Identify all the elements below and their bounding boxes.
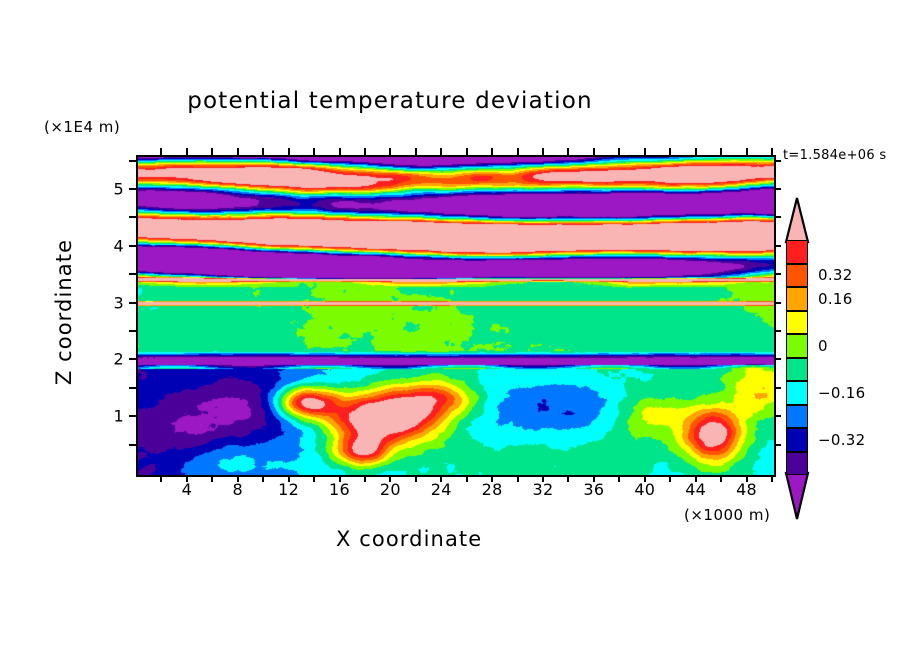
axis-tick bbox=[774, 188, 781, 190]
x-axis-unit-label: (×1000 m) bbox=[684, 506, 770, 524]
axis-tick bbox=[364, 148, 366, 155]
time-stamp-label: t=1.584e+06 s bbox=[783, 148, 886, 163]
axis-tick bbox=[771, 148, 773, 155]
colorbar-tick-label: 0.16 bbox=[818, 290, 853, 308]
axis-tick bbox=[415, 148, 417, 155]
colorbar-tick-label: −0.32 bbox=[818, 431, 865, 449]
y-tick-label: 1 bbox=[100, 407, 124, 426]
x-tick-label: 44 bbox=[685, 480, 706, 499]
y-tick-label: 5 bbox=[100, 180, 124, 199]
colorbar-band bbox=[786, 452, 808, 476]
axis-tick bbox=[129, 160, 136, 162]
x-tick-label: 12 bbox=[278, 480, 299, 499]
axis-tick bbox=[339, 148, 341, 155]
colorbar-band bbox=[786, 358, 808, 382]
contour-field-canvas bbox=[138, 157, 774, 475]
colorbar-band bbox=[786, 405, 808, 429]
axis-tick bbox=[774, 160, 781, 162]
colorbar-over-arrow bbox=[786, 198, 808, 242]
x-tick-label: 24 bbox=[431, 480, 452, 499]
axis-tick bbox=[262, 148, 264, 155]
axis-tick bbox=[669, 475, 671, 482]
axis-tick bbox=[129, 444, 136, 446]
axis-tick bbox=[517, 475, 519, 482]
axis-tick bbox=[262, 475, 264, 482]
axis-tick bbox=[415, 475, 417, 482]
y-tick-label: 2 bbox=[100, 350, 124, 369]
axis-tick bbox=[567, 475, 569, 482]
colorbar-tick-label: 0 bbox=[818, 337, 828, 355]
y-tick-label: 3 bbox=[100, 293, 124, 312]
y-axis-title: Z coordinate bbox=[52, 212, 76, 412]
axis-tick bbox=[491, 148, 493, 155]
axis-tick bbox=[160, 148, 162, 155]
axis-tick bbox=[669, 148, 671, 155]
contour-plot-area bbox=[136, 155, 776, 477]
axis-tick bbox=[466, 148, 468, 155]
axis-tick bbox=[129, 188, 136, 190]
chart-title: potential temperature deviation bbox=[0, 88, 780, 114]
colorbar-band bbox=[786, 334, 808, 358]
axis-tick bbox=[313, 148, 315, 155]
axis-tick bbox=[364, 475, 366, 482]
axis-tick bbox=[695, 148, 697, 155]
axis-tick bbox=[720, 475, 722, 482]
axis-tick bbox=[746, 148, 748, 155]
x-tick-label: 20 bbox=[380, 480, 401, 499]
axis-tick bbox=[211, 475, 213, 482]
axis-tick bbox=[720, 148, 722, 155]
axis-tick bbox=[644, 148, 646, 155]
axis-tick bbox=[567, 148, 569, 155]
axis-tick bbox=[313, 475, 315, 482]
x-tick-label: 36 bbox=[583, 480, 604, 499]
x-tick-label: 8 bbox=[233, 480, 243, 499]
axis-tick bbox=[593, 148, 595, 155]
colorbar-band bbox=[786, 381, 808, 405]
axis-tick bbox=[288, 148, 290, 155]
colorbar-tick-label: 0.32 bbox=[818, 266, 853, 284]
axis-tick bbox=[129, 415, 136, 417]
axis-tick bbox=[389, 148, 391, 155]
axis-tick bbox=[618, 475, 620, 482]
colorbar-band bbox=[786, 264, 808, 288]
axis-tick bbox=[129, 302, 136, 304]
axis-tick bbox=[186, 148, 188, 155]
colorbar-band bbox=[786, 428, 808, 452]
colorbar-band bbox=[786, 311, 808, 335]
x-tick-label: 4 bbox=[182, 480, 192, 499]
colorbar-band bbox=[786, 240, 808, 264]
colorbar-tick-label: −0.16 bbox=[818, 384, 865, 402]
axis-tick bbox=[618, 148, 620, 155]
x-tick-label: 16 bbox=[329, 480, 350, 499]
x-tick-label: 48 bbox=[736, 480, 757, 499]
axis-tick bbox=[771, 475, 773, 482]
axis-tick bbox=[440, 148, 442, 155]
x-tick-label: 32 bbox=[533, 480, 554, 499]
y-axis-unit-label: (×1E4 m) bbox=[44, 118, 120, 136]
axis-tick bbox=[129, 273, 136, 275]
x-tick-label: 28 bbox=[482, 480, 503, 499]
axis-tick bbox=[129, 358, 136, 360]
axis-tick bbox=[466, 475, 468, 482]
axis-tick bbox=[237, 148, 239, 155]
axis-tick bbox=[211, 148, 213, 155]
y-tick-label: 4 bbox=[100, 236, 124, 255]
axis-tick bbox=[129, 245, 136, 247]
x-tick-label: 40 bbox=[634, 480, 655, 499]
axis-tick bbox=[517, 148, 519, 155]
axis-tick bbox=[129, 387, 136, 389]
colorbar-band bbox=[786, 287, 808, 311]
axis-tick bbox=[129, 216, 136, 218]
colorbar-under-arrow bbox=[786, 473, 808, 519]
axis-tick bbox=[160, 475, 162, 482]
x-axis-title: X coordinate bbox=[336, 527, 482, 551]
axis-tick bbox=[542, 148, 544, 155]
axis-tick bbox=[129, 330, 136, 332]
